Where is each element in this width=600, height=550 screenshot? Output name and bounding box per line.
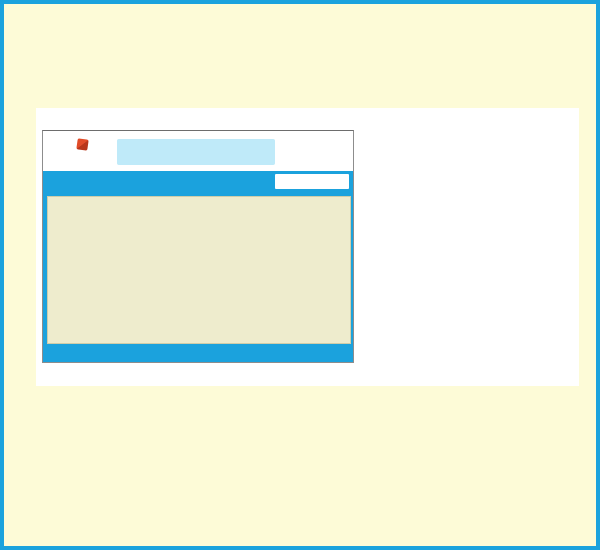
kotoba-list-poster [42,130,354,363]
poster-title [117,139,275,165]
band-note-chip [275,174,349,189]
page-canvas [4,4,596,546]
poster-subtitle-band [43,171,353,194]
dice-cube-icon [76,138,88,150]
kumon-toy-logo [51,137,113,167]
play-examples [356,108,579,386]
product-image-panel [36,108,579,386]
word-list-sheet [47,196,351,344]
